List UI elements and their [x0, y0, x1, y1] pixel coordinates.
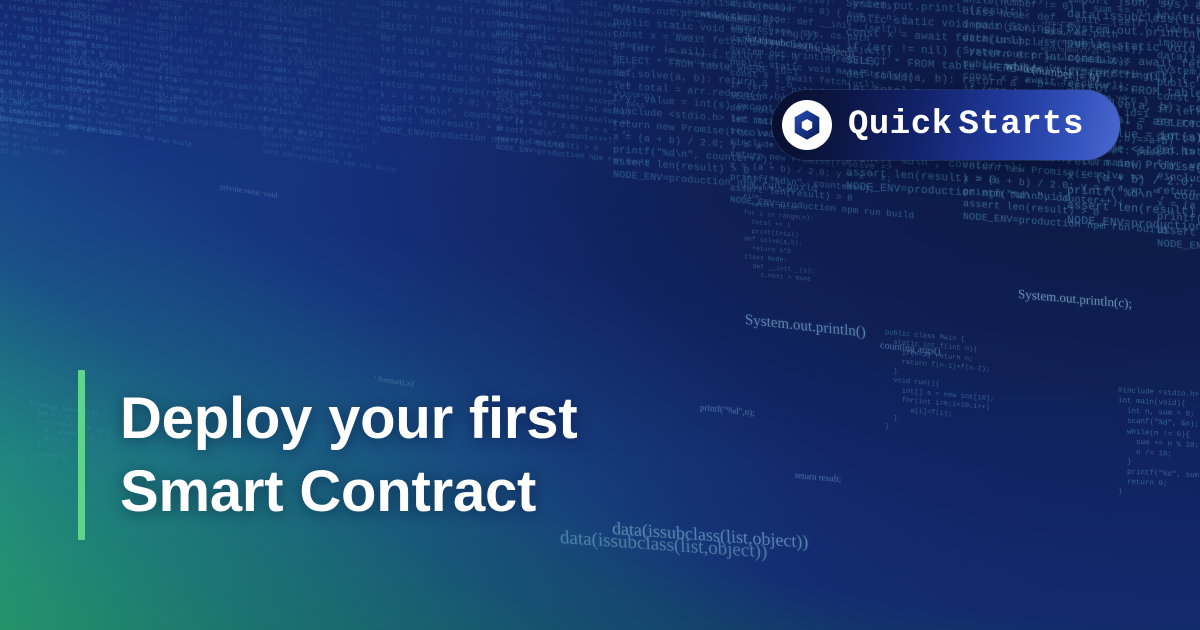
quickstarts-banner: 0110 if(x) return n; 0x4F2A for i in ran… [0, 0, 1200, 630]
badge-text-starts: Starts [959, 106, 1084, 144]
headline-accent-bar [78, 370, 85, 540]
quickstarts-badge-label: QuickStarts [848, 108, 1084, 142]
page-title: Deploy your first Smart Contract [120, 383, 760, 528]
badge-text-quick: Quick [848, 106, 953, 144]
headline-line-1: Deploy your first [120, 383, 760, 456]
chainlink-hexagon-icon [782, 100, 832, 150]
quickstarts-badge[interactable]: QuickStarts [772, 90, 1120, 160]
headline-line-2: Smart Contract [120, 456, 760, 529]
